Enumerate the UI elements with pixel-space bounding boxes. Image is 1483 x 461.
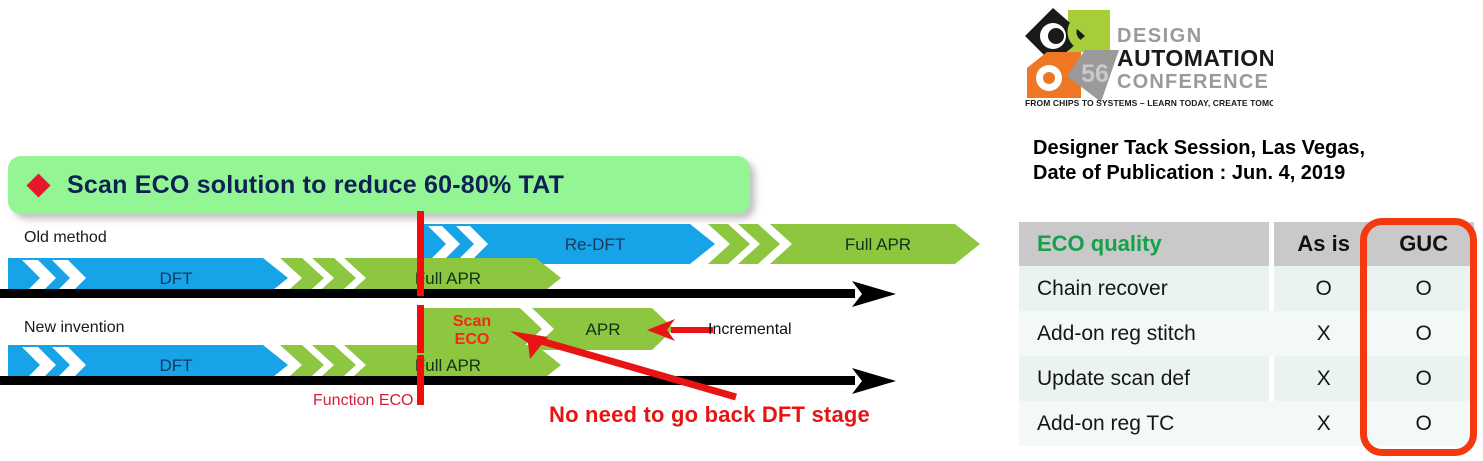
no-need-annotation: No need to go back DFT stage bbox=[549, 402, 870, 428]
function-eco-annotation: Function ECO bbox=[313, 392, 413, 410]
session-heading-line1: Designer Tack Session, Las Vegas, bbox=[1033, 136, 1473, 161]
timeline-axis-bottom bbox=[0, 368, 900, 399]
table-row: Chain recover O O bbox=[1019, 266, 1474, 311]
function-eco-marker-line-bottom bbox=[417, 355, 424, 405]
cell-as-is-value: X bbox=[1274, 401, 1373, 446]
cell-guc-value: O bbox=[1373, 401, 1474, 446]
logo-line-conference: CONFERENCE bbox=[1117, 71, 1269, 93]
cell-as-is-value: X bbox=[1274, 311, 1373, 356]
cell-guc-value: O bbox=[1373, 266, 1474, 311]
segment-label-full-apr: Full APR bbox=[845, 235, 911, 254]
process-diagram-panel: Scan ECO solution to reduce 60-80% TAT O… bbox=[0, 0, 1005, 461]
old-method-label: Old method bbox=[24, 229, 107, 247]
session-heading-line2: Date of Publication : Jun. 4, 2019 bbox=[1033, 161, 1473, 186]
cell-feature-name: Add-on reg stitch bbox=[1019, 311, 1269, 356]
function-eco-marker-line-top bbox=[417, 211, 424, 296]
logo-line-design: DESIGN bbox=[1117, 25, 1203, 47]
table-row: Add-on reg stitch X O bbox=[1019, 311, 1474, 356]
col-header-eco-quality: ECO quality bbox=[1019, 222, 1269, 266]
red-diamond-bullet-icon bbox=[26, 173, 50, 197]
col-header-as-is: As is bbox=[1274, 222, 1373, 266]
segment-label-scan: Scan bbox=[453, 313, 491, 330]
logo-tagline: FROM CHIPS TO SYSTEMS – LEARN TODAY, CRE… bbox=[1025, 98, 1273, 108]
headline-banner: Scan ECO solution to reduce 60-80% TAT bbox=[8, 156, 750, 214]
table-row: Add-on reg TC X O bbox=[1019, 401, 1474, 446]
incremental-annotation: Incremental bbox=[708, 321, 792, 339]
table-row: Update scan def X O bbox=[1019, 356, 1474, 401]
table-header-row: ECO quality As is GUC bbox=[1019, 222, 1474, 266]
col-header-guc: GUC bbox=[1373, 222, 1474, 266]
headline-text: Scan ECO solution to reduce 60-80% TAT bbox=[67, 171, 564, 200]
session-heading: Designer Tack Session, Las Vegas, Date o… bbox=[1033, 136, 1473, 186]
cell-as-is-value: O bbox=[1274, 266, 1373, 311]
cell-guc-value: O bbox=[1373, 311, 1474, 356]
cell-feature-name: Add-on reg TC bbox=[1019, 401, 1269, 446]
logo-line-automation: AUTOMATION bbox=[1117, 45, 1273, 71]
eco-quality-table: ECO quality As is GUC Chain recover O O … bbox=[1019, 222, 1474, 446]
cell-guc-value: O bbox=[1373, 356, 1474, 401]
dac-56-logo-icon: 56 DESIGN AUTOMATION CONFERENCE FROM CHI… bbox=[1023, 6, 1273, 109]
segment-label-re-dft: Re-DFT bbox=[565, 235, 625, 254]
info-panel: 56 DESIGN AUTOMATION CONFERENCE FROM CHI… bbox=[1005, 0, 1483, 461]
new-invention-label: New invention bbox=[24, 319, 125, 337]
cell-feature-name: Update scan def bbox=[1019, 356, 1269, 401]
function-eco-marker-line-mid bbox=[417, 305, 424, 353]
logo-edition-number: 56 bbox=[1081, 60, 1109, 88]
cell-as-is-value: X bbox=[1274, 356, 1373, 401]
cell-feature-name: Chain recover bbox=[1019, 266, 1269, 311]
